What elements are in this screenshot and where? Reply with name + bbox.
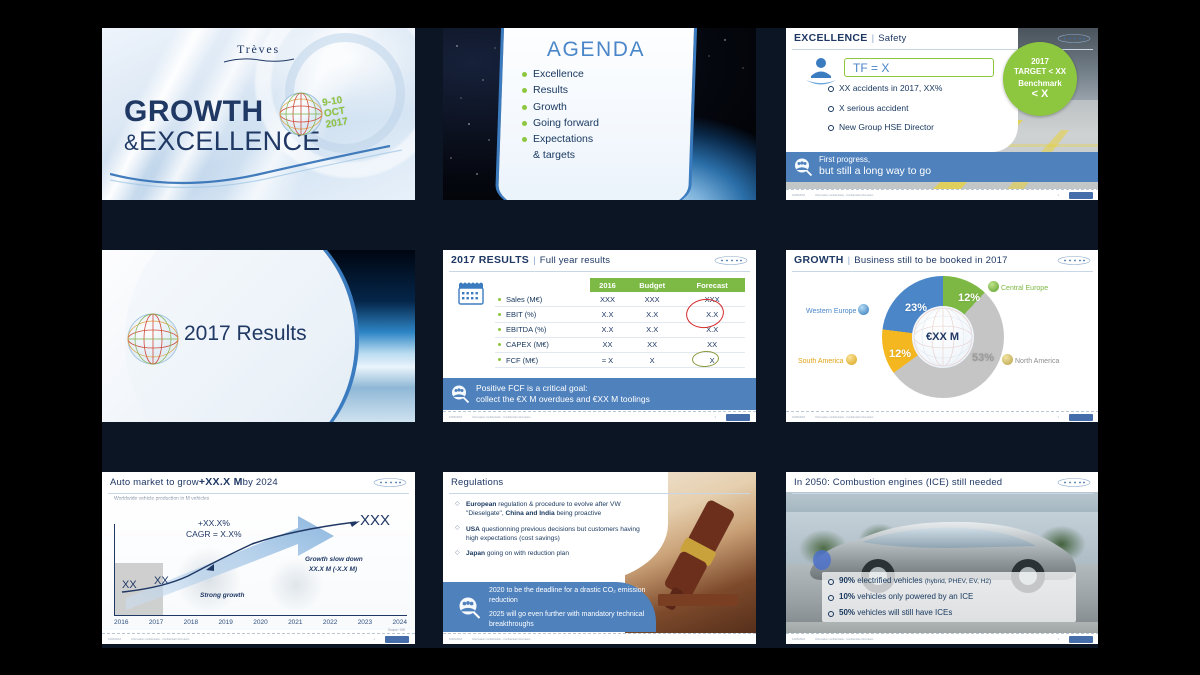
x-tick: 2021 (288, 619, 302, 626)
band-line-2: but still a long way to go (819, 165, 931, 178)
audience-search-icon (793, 157, 813, 177)
footer-logo-icon (1069, 636, 1093, 643)
title-separator: | (848, 255, 851, 266)
x-tick: 2019 (218, 619, 232, 626)
page-title: In 2050: Combustion engines (ICE) still … (794, 477, 1002, 488)
title-kicker: GROWTH (794, 254, 844, 266)
treves-logo-icon (1057, 478, 1091, 487)
slide-grid: Trèves GROWTH &EXCELLENCE (102, 28, 1098, 648)
agenda-item-excellence[interactable]: Excellence (521, 66, 599, 82)
band-line-2: 2025 will go even further with mandatory… (489, 610, 659, 630)
calendar-icon (457, 280, 487, 308)
regulation-bullet: Japan going on with reduction plan (455, 549, 651, 558)
agenda-item-expectations[interactable]: Expectations & targets (521, 131, 599, 164)
badge-year: 2017 (1031, 57, 1049, 66)
audience-search-icon (450, 384, 470, 404)
cell-sales-2016: XXX (590, 292, 625, 307)
cell-sales-budget: XXX (625, 292, 679, 307)
band-line-1: First progress, (819, 155, 931, 165)
globe-mini-icon (1002, 354, 1013, 365)
agenda-title: AGENDA (501, 38, 691, 62)
slide-footer: 10/05/2018 Information confidentielle - … (786, 189, 1099, 200)
slide-deck-overview: Trèves GROWTH &EXCELLENCE (0, 0, 1200, 675)
slide-regulations[interactable]: Regulations European regulation & proced… (443, 472, 756, 644)
bullet-label: XX accidents in 2017, XX% (839, 83, 942, 93)
audience-search-icon (457, 596, 481, 622)
footer-logo-icon (1069, 414, 1093, 421)
swoosh-decoration (110, 144, 410, 190)
footer-logo-icon (1069, 192, 1093, 199)
brand-swash-icon (222, 57, 296, 64)
title-subtitle: Safety (878, 33, 906, 44)
x-axis-labels: 2016 2017 2018 2019 2020 2021 2022 2023 … (114, 619, 407, 626)
x-tick: 2018 (184, 619, 198, 626)
title-subtitle: Full year results (540, 255, 610, 266)
agenda-list: Excellence Results Growth Going forward … (521, 66, 599, 164)
divider-title: 2017 Results (184, 322, 307, 346)
annotation-right-value: XXX (360, 512, 390, 529)
slide-title-bar: Auto market to grow +XX.X M by 2024 (102, 472, 415, 492)
footer-date: 10/05/2018 (449, 416, 462, 419)
footer-confidential: Information confidentielle - Confidentia… (815, 194, 873, 197)
bullet-strong: European (466, 501, 496, 508)
table-header-row: 2016 Budget Forecast (495, 278, 745, 292)
letterbox-left (0, 0, 102, 675)
row-label-ebit: EBIT (%) (495, 307, 590, 322)
footer-confidential: Information confidentielle - Confidentia… (815, 416, 873, 419)
donut-center-label: €XX M (912, 306, 974, 368)
globe-mini-icon (846, 354, 857, 365)
cell-ebit-budget: X.X (625, 307, 679, 322)
ice-bullet: 50% vehicles will still have ICEs (828, 609, 1070, 618)
letterbox-right (1098, 0, 1200, 675)
annotation-left-value-1: XX (122, 579, 137, 591)
row-label-fcf: FCF (M€) (495, 352, 590, 367)
legend-label: North America (1015, 358, 1059, 365)
title-separator: | (872, 33, 875, 44)
badge-benchmark-label: Benchmark (1018, 79, 1062, 88)
slice-value-north-america: 53% (972, 352, 994, 364)
slide-title-bar: GROWTH | Business still to be booked in … (786, 250, 1099, 270)
slide-title[interactable]: Trèves GROWTH &EXCELLENCE (102, 28, 415, 200)
annotation-slowdown-line1: Growth slow down (305, 556, 363, 563)
title-rule (792, 493, 1093, 494)
brand-logo: Trèves (102, 42, 415, 64)
x-tick: 2017 (149, 619, 163, 626)
footer-page: 1 (1058, 416, 1059, 419)
tf-value-box: TF = X (844, 58, 994, 77)
title-rule (449, 271, 750, 272)
col-header-budget: Budget (625, 278, 679, 292)
footer-date: 10/05/2018 (792, 194, 805, 197)
legend-central-europe: Central Europe (986, 281, 1048, 292)
legend-label: Western Europe (806, 308, 856, 315)
letterbox-bottom (0, 648, 1200, 675)
cell-capex-2016: XX (590, 337, 625, 352)
slide-footer: 10/05/2018 Information confidentielle - … (102, 633, 415, 644)
slide-footer: 10/05/2018 Information confidentielle - … (786, 633, 1099, 644)
bullet-strong: 90% (839, 576, 855, 585)
donut-center-value: €XX M (926, 331, 959, 343)
band-line-1: 2020 to be the deadline for a drastic CO… (489, 586, 659, 606)
globe-icon (278, 91, 324, 139)
cell-capex-budget: XX (625, 337, 679, 352)
slide-title-bar: In 2050: Combustion engines (ICE) still … (786, 472, 1099, 492)
bullet-text-2: being proactive (555, 510, 602, 517)
globe-mini-icon (988, 281, 999, 292)
slide-agenda[interactable]: AGENDA Excellence Results Growth Going f… (443, 28, 756, 200)
title-kicker: EXCELLENCE (794, 32, 868, 44)
row-label-capex: CAPEX (M€) (495, 337, 590, 352)
agenda-item-label: Growth (533, 101, 567, 113)
bullet-text: vehicles will still have ICEs (855, 608, 952, 617)
legend-north-america: North America (1000, 354, 1059, 365)
slide-footer: 10/05/2018 Information confidentielle - … (443, 633, 756, 644)
agenda-item-label-line2: & targets (533, 147, 599, 163)
regulations-bullet-list: European regulation & procedure to evolv… (455, 500, 651, 565)
x-tick: 2020 (253, 619, 267, 626)
treves-logo-icon (1057, 34, 1091, 43)
footer-page: 1 (715, 416, 716, 419)
tf-value: TF = X (853, 61, 889, 75)
slide-footer: 10/05/2018 Information confidentielle - … (786, 411, 1099, 422)
slide-full-year-results[interactable]: 2017 RESULTS | Full year results (443, 250, 756, 422)
footer-confidential: Information confidentielle - Confidentia… (472, 638, 530, 641)
slide-ice-2050[interactable]: In 2050: Combustion engines (ICE) still … (786, 472, 1099, 644)
footer-page: 1 (1058, 194, 1059, 197)
band-text: 2020 to be the deadline for a drastic CO… (489, 586, 659, 634)
annotation-growth-pct: +XX.X% (198, 518, 230, 528)
annotation-left-value-2: XX (154, 575, 169, 587)
agenda-item-label: Going forward (533, 117, 599, 129)
bullet-text: questionning previous decisions but cust… (466, 526, 640, 542)
treves-logo-icon (714, 256, 748, 265)
bullet-text: vehicles only powered by an ICE (855, 592, 973, 601)
band-line-1: Positive FCF is a critical goal: (476, 383, 650, 394)
badge-benchmark-value: < X (1032, 88, 1049, 101)
agenda-item-going-forward[interactable]: Going forward (521, 115, 599, 131)
bullet-strong-2: China and India (506, 510, 555, 517)
key-message-band: Positive FCF is a critical goal: collect… (443, 378, 756, 410)
globe-icon (126, 312, 180, 368)
slide-title-bar: Regulations (443, 472, 756, 492)
cell-fcf-2016: ≈ X (590, 352, 625, 367)
cell-ebitda-budget: X.X (625, 322, 679, 337)
footer-date: 10/05/2018 (449, 638, 462, 641)
brand-name: Trèves (102, 42, 415, 57)
footer-page: 1 (1058, 638, 1059, 641)
footer-logo-icon (726, 414, 750, 421)
footer-date: 10/05/2018 (792, 638, 805, 641)
bullet-strong: 10% (839, 592, 855, 601)
safety-bullet: XX accidents in 2017, XX% (828, 84, 942, 93)
footer-date: 10/05/2018 (108, 638, 121, 641)
col-header-forecast: Forecast (679, 278, 745, 292)
x-tick: 2022 (323, 619, 337, 626)
footer-logo-icon (385, 636, 409, 643)
bullet-text: electrified vehicles (855, 576, 925, 585)
legend-western-europe: Western Europe (806, 304, 871, 315)
slide-auto-market[interactable]: Auto market to grow +XX.X M by 2024 Worl… (102, 472, 415, 644)
band-text: Positive FCF is a critical goal: collect… (476, 383, 650, 404)
ice-bullet: 10% vehicles only powered by an ICE (828, 593, 1070, 602)
key-message-band: First progress, but still a long way to … (786, 152, 1099, 182)
slice-value-south-america: 12% (889, 348, 911, 360)
footer-confidential: Information confidentielle - Confidentia… (815, 638, 873, 641)
title-rule (449, 493, 750, 494)
band-text: First progress, but still a long way to … (819, 155, 931, 178)
annotation-cagr: CAGR = X.X% (186, 529, 242, 539)
title-suffix: by 2024 (243, 477, 278, 488)
x-tick: 2016 (114, 619, 128, 626)
cell-capex-forecast: XX (679, 337, 745, 352)
band-line-2: collect the €X M overdues and €XX M tool… (476, 394, 650, 405)
bullet-label: X serious accident (839, 103, 908, 113)
badge-target: TARGET < XX (1014, 67, 1066, 76)
letterbox-top (0, 0, 1200, 28)
bullet-note: (hybrid, PHEV, EV, H2) (925, 578, 991, 585)
treves-logo-icon (1057, 256, 1091, 265)
slide-title-bar: 2017 RESULTS | Full year results (443, 250, 756, 270)
regulation-bullet: USA questionning previous decisions but … (455, 525, 651, 544)
legend-label: Central Europe (1001, 285, 1048, 292)
bullet-strong: Japan (466, 550, 485, 557)
slide-growth-booking[interactable]: GROWTH | Business still to be booked in … (786, 250, 1099, 422)
agenda-item-label: Excellence (533, 68, 584, 80)
title-subtitle: Business still to be booked in 2017 (854, 255, 1007, 266)
agenda-panel: AGENDA Excellence Results Growth Going f… (497, 28, 694, 200)
legend-label: South America (798, 358, 844, 365)
footer-page: 1 (374, 638, 375, 641)
slice-value-central-europe: 12% (958, 292, 980, 304)
chart-source: Source: IHS (388, 628, 405, 632)
ice-bullet: 90% electrified vehicles (hybrid, PHEV, … (828, 577, 1070, 586)
row-label-sales: Sales (M€) (495, 292, 590, 307)
title-separator: | (533, 255, 536, 266)
footer-confidential: Information confidentielle - Confidentia… (131, 638, 189, 641)
legend-south-america: South America (798, 354, 859, 365)
donut-ring: €XX M (882, 276, 1004, 398)
ice-bullet-list: 90% electrified vehicles (hybrid, PHEV, … (822, 572, 1076, 622)
cell-ebitda-2016: X.X (590, 322, 625, 337)
cell-ebit-2016: X.X (590, 307, 625, 322)
treves-logo-icon (373, 478, 407, 487)
x-tick: 2024 (393, 619, 407, 626)
cell-fcf-budget: X (625, 352, 679, 367)
footer-confidential: Information confidentielle - Confidentia… (472, 416, 530, 419)
safety-bullet: X serious accident (828, 104, 942, 113)
footer-date: 10/05/2018 (792, 416, 805, 419)
donut-chart: €XX M 12% 53% 12% 23% Central Europe Nor… (786, 274, 1099, 406)
bullet-strong: 50% (839, 608, 855, 617)
title-prefix: Auto market to grow (110, 477, 199, 488)
agenda-item-label: Results (533, 84, 568, 96)
title-kicker: 2017 RESULTS (451, 254, 529, 266)
slide-excellence-safety[interactable]: EXCELLENCE | Safety TF = X (786, 28, 1099, 200)
safety-bullet-list: XX accidents in 2017, XX% X serious acci… (828, 84, 942, 143)
title-strong: +XX.X M (199, 476, 243, 488)
annotation-slowdown-line2: XX.X M (-X.X M) (309, 566, 357, 573)
slice-value-western-europe: 23% (905, 302, 927, 314)
bullet-label: New Group HSE Director (839, 122, 934, 132)
agenda-item-results[interactable]: Results (521, 82, 599, 98)
agenda-item-label: Expectations (533, 133, 593, 145)
slide-footer: 10/05/2018 Information confidentielle - … (443, 411, 756, 422)
slide-2017-results-divider[interactable]: 2017 Results (102, 250, 415, 422)
regulation-bullet: European regulation & procedure to evolv… (455, 500, 651, 519)
safety-bullet: New Group HSE Director (828, 123, 942, 132)
title-rule (792, 271, 1093, 272)
bullet-strong: USA (466, 526, 480, 533)
annotation-strong-growth: Strong growth (200, 592, 244, 599)
col-header-2016: 2016 (590, 278, 625, 292)
globe-mini-icon (858, 304, 869, 315)
bullet-text: going on with reduction plan (485, 550, 569, 557)
row-label-ebitda: EBITDA (%) (495, 322, 590, 337)
x-tick: 2023 (358, 619, 372, 626)
page-title: Regulations (451, 477, 503, 488)
agenda-item-growth[interactable]: Growth (521, 99, 599, 115)
target-badge: 2017 TARGET < XX Benchmark < X (1003, 42, 1077, 116)
